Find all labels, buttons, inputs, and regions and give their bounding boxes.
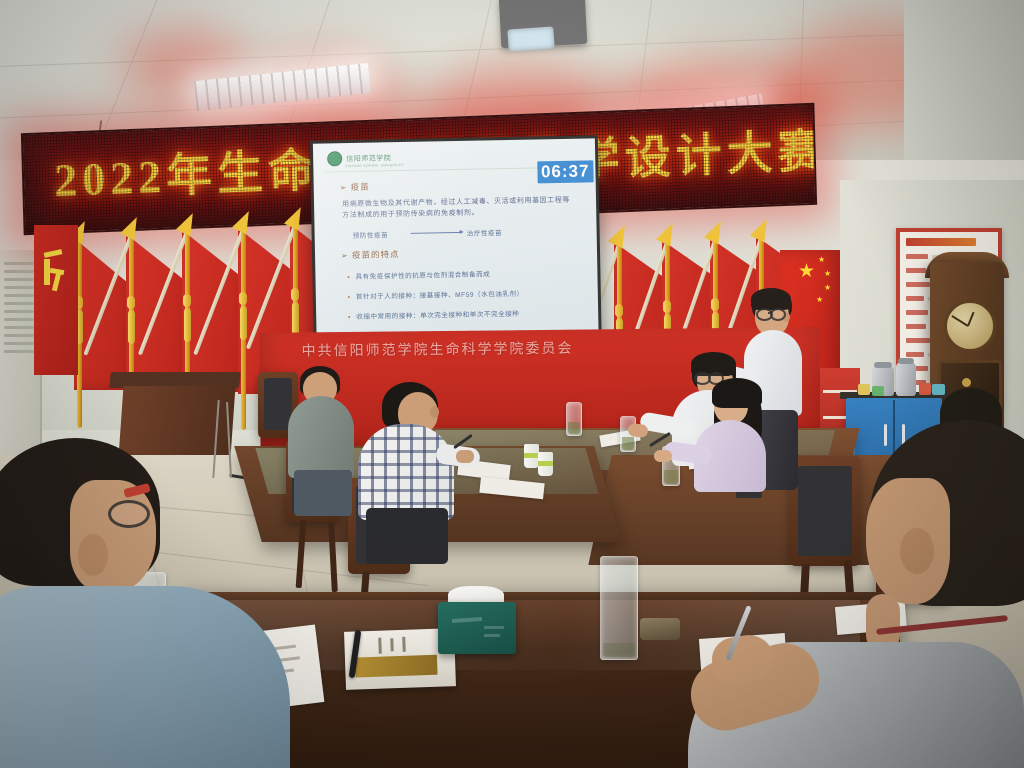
mug-2 [872,386,884,396]
meeting-room-photo: 2022年生命科学学院教学设计大赛 [0,0,1024,768]
attendee-grey-trousers [294,470,352,516]
fg-left-glasses [108,500,150,528]
paper-cup-1 [524,444,539,468]
fg-left-face-side [70,480,156,592]
tissue-box [438,602,516,654]
fg-left-shirt [0,586,290,768]
mug-3 [919,383,931,395]
chair-4-pad [798,466,852,556]
attendee-plaid-hand [456,450,474,463]
notebook-label [356,636,435,657]
presenter-hair-top [751,288,791,310]
projector-lens [507,26,554,51]
cabinet-handle-left[interactable] [884,424,887,446]
electric-kettle-2 [896,362,916,396]
party-flag [34,225,78,375]
glass-cup-lid [640,618,680,640]
poster-title-bar [906,238,976,246]
mug-1 [858,384,870,395]
attendee-plaid-trousers [366,508,448,564]
paper-cup-2 [538,452,553,476]
kettle-lid-1 [874,362,892,368]
clock-face [944,300,996,352]
glass-water-cup-foreground [600,556,638,660]
judge2-hand [654,450,672,462]
kettle-lid-2 [898,358,914,364]
glass-cup-back-1 [566,402,582,436]
notebook-gold-band [355,655,438,678]
ceiling-right-edge [904,0,1024,160]
fg-left-ear [78,534,108,576]
clock-pendulum [962,378,971,387]
judge2-hair-top [712,378,762,408]
attendee-plaid-ear [430,406,439,418]
fg-right-ear [900,528,934,574]
presenter-glasses-right [770,308,786,321]
podium-banner-text: 中共信阳师范学院生命科学学院委员会 [301,338,573,361]
attendee-grey-body [288,396,354,478]
presenter-glasses-bridge [768,312,772,314]
mug-4 [932,384,945,395]
attendee-plaid-body [358,424,454,520]
